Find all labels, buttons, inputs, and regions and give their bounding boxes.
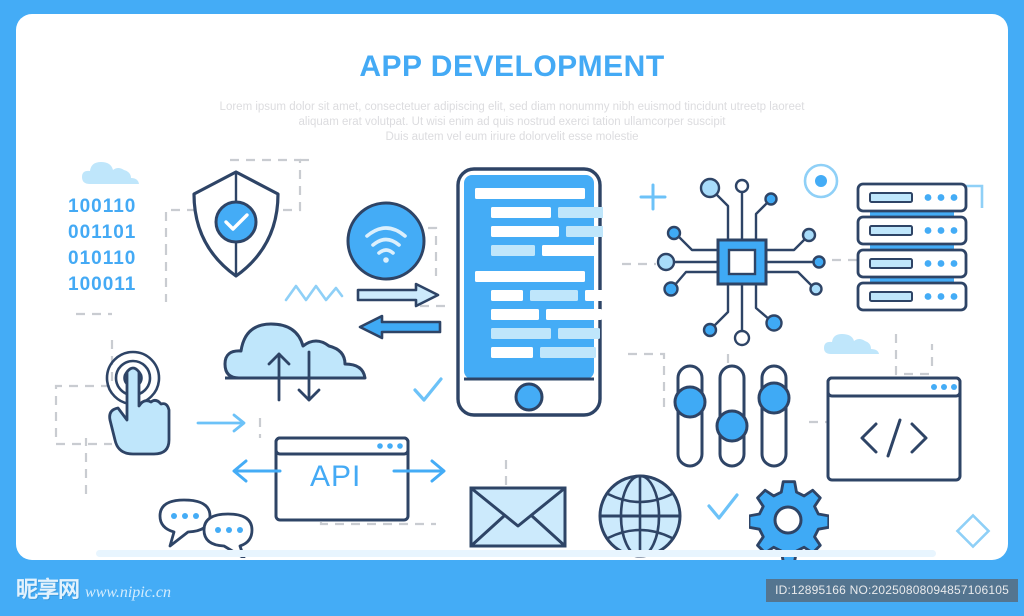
- cpu-chip-icon: [652, 174, 832, 350]
- phone-code-bar: [540, 347, 596, 358]
- phone-code-bar: [475, 271, 585, 282]
- checkmark-bottom-icon: [706, 492, 740, 524]
- white-card: APP DEVELOPMENT Lorem ipsum dolor sit am…: [16, 14, 1008, 560]
- smartphone-code-icon: [455, 166, 603, 423]
- cloud-small-right-icon: [824, 332, 882, 356]
- binary-line-3: 010110: [68, 246, 136, 272]
- server-stack-icon: [854, 180, 970, 316]
- poster-canvas: APP DEVELOPMENT Lorem ipsum dolor sit am…: [0, 0, 1024, 616]
- server-slot: [870, 292, 912, 301]
- arrow-right-icon: [196, 410, 252, 436]
- phone-code-bar: [491, 226, 559, 237]
- subtitle-line-2: aliquam erat volutpat. Ut wisi enim ad q…: [16, 115, 1008, 130]
- code-window-icon: [826, 376, 962, 487]
- watermark-logo-text: 昵享网: [16, 572, 79, 604]
- binary-line-1: 100110: [68, 194, 136, 220]
- server-led: [951, 293, 958, 300]
- phone-code-bar: [491, 245, 535, 256]
- api-arrow-left-icon: [230, 454, 282, 488]
- phone-code-bar: [558, 207, 603, 218]
- binary-code-text: 100110 001101 010110 100011: [68, 194, 136, 298]
- cloud-sync-icon: [223, 316, 371, 406]
- server-led: [951, 227, 958, 234]
- phone-code-bar: [585, 290, 603, 301]
- phone-code-bar: [491, 328, 551, 339]
- phone-code-bar: [475, 188, 585, 199]
- diamond-outline-icon: [954, 512, 992, 550]
- target-circle-icon: [802, 162, 840, 200]
- slider-knob[interactable]: [675, 387, 705, 417]
- slider-track[interactable]: [762, 366, 786, 466]
- api-arrow-right-icon: [392, 454, 448, 488]
- sliders-icon: [672, 362, 792, 472]
- phone-code-bar: [566, 226, 603, 237]
- binary-line-2: 001101: [68, 220, 136, 246]
- slider-knob[interactable]: [759, 383, 789, 413]
- api-label: API: [310, 460, 361, 494]
- server-slot: [870, 226, 912, 235]
- phone-code-bar: [542, 245, 598, 256]
- server-led: [938, 260, 945, 267]
- server-led: [925, 260, 932, 267]
- server-led: [925, 293, 932, 300]
- subtitle-line-1: Lorem ipsum dolor sit amet, consectetuer…: [16, 100, 1008, 115]
- server-led: [938, 194, 945, 201]
- zigzag-icon: [284, 282, 344, 304]
- checkmark-icon: [412, 376, 444, 406]
- phone-code-bar: [491, 347, 533, 358]
- phone-code-bar: [546, 309, 602, 320]
- gear-icon: [749, 480, 829, 560]
- chat-bubbles-icon: [152, 496, 262, 558]
- phone-code-bar: [530, 290, 578, 301]
- slider-knob[interactable]: [717, 411, 747, 441]
- globe-icon: [596, 472, 684, 560]
- shield-check-icon: [188, 166, 284, 282]
- server-slot: [870, 193, 912, 202]
- subtitle-line-3: Duis autem vel eum iriure dolorvelit ess…: [16, 130, 1008, 145]
- envelope-icon: [468, 482, 568, 552]
- watermark-url-text: www.nipic.cn: [85, 584, 171, 604]
- server-slot: [870, 259, 912, 268]
- phone-code-bar: [558, 328, 600, 339]
- server-led: [938, 227, 945, 234]
- server-led: [925, 194, 932, 201]
- bottom-accent-bar: [96, 550, 936, 557]
- page-title: APP DEVELOPMENT: [16, 50, 1008, 84]
- phone-code-bar: [491, 207, 551, 218]
- wifi-icon: [345, 200, 427, 282]
- watermark: 昵享网 www.nipic.cn: [16, 572, 171, 604]
- server-led: [938, 293, 945, 300]
- touch-hand-icon: [100, 348, 186, 458]
- id-badge: ID:12895166 NO:20250808094857106105: [766, 579, 1018, 602]
- server-led: [951, 194, 958, 201]
- cloud-small-top-left-icon: [82, 160, 142, 186]
- phone-code-bar: [491, 290, 523, 301]
- server-led: [925, 227, 932, 234]
- page-subtitle: Lorem ipsum dolor sit amet, consectetuer…: [16, 100, 1008, 145]
- binary-line-4: 100011: [68, 272, 136, 298]
- phone-code-bar: [491, 309, 539, 320]
- server-led: [951, 260, 958, 267]
